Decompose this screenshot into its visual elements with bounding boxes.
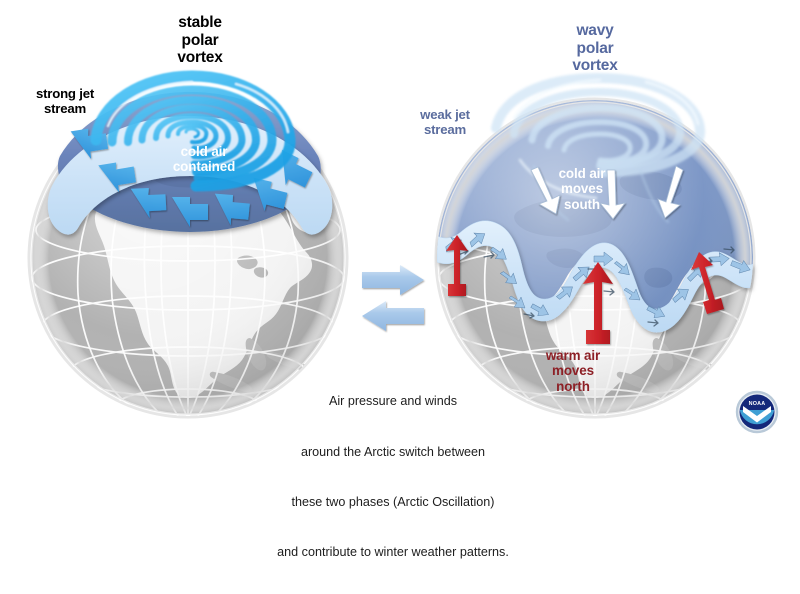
right-panel-title: wavy polar vortex <box>540 22 650 75</box>
noaa-logo: NOAA <box>736 391 778 433</box>
caption-line-3: these two phases (Arctic Oscillation) <box>262 494 524 511</box>
phase-switch-arrows <box>362 265 424 331</box>
warm-air-moves-north-label: warm air moves north <box>523 348 623 394</box>
left-panel-title: stable polar vortex <box>140 14 260 67</box>
infographic-canvas: NOAA stable polar vortex wavy polar vort… <box>0 0 800 446</box>
arrow-left-icon <box>362 301 424 331</box>
weak-jet-stream-label: weak jet stream <box>392 107 498 137</box>
svg-text:NOAA: NOAA <box>749 401 766 407</box>
caption-line-1: Air pressure and winds <box>262 393 524 410</box>
caption-line-4: and contribute to winter weather pattern… <box>262 544 524 561</box>
cold-air-contained-label: cold air contained <box>152 144 256 175</box>
strong-jet-stream-label: strong jet stream <box>10 86 120 116</box>
arrow-right-icon <box>362 265 424 295</box>
cold-air-moves-south-label: cold air moves south <box>532 166 632 212</box>
caption-line-2: around the Arctic switch between <box>262 444 524 461</box>
figure-caption: Air pressure and winds around the Arctic… <box>262 360 524 594</box>
